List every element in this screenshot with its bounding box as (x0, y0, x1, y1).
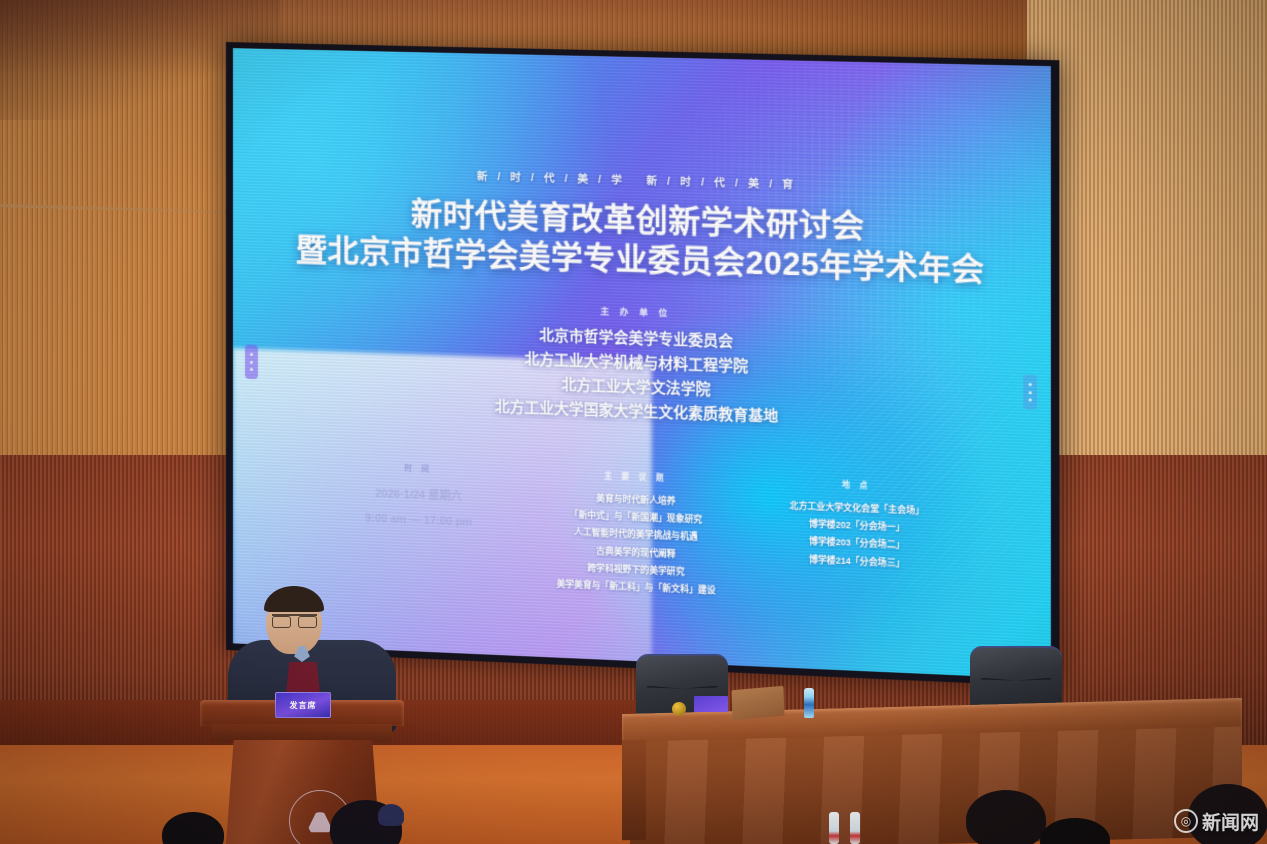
watermark: ◎ 新闻网 (1174, 806, 1259, 836)
time-column: 时 间 2026·1/24 星期六 9:00 am — 17:00 pm (311, 459, 527, 592)
table-nameplate (694, 696, 728, 712)
slide-eyebrow-left: 新 / 时 / 代 / 美 / 学 (477, 171, 626, 187)
speaker-glasses-icon (272, 614, 317, 624)
podium-mid-trim (212, 724, 392, 742)
water-bottle-floor-1 (829, 812, 839, 844)
speaker-hair (264, 586, 324, 612)
watermark-logo-icon: ◎ (1174, 809, 1198, 833)
venue-column-body: 北方工业大学文化会堂「主会场」 博学楼202「分会场一」 博学楼203「分会场二… (746, 496, 969, 575)
conference-table-group (622, 652, 1242, 844)
venue-column-label: 地 点 (746, 475, 969, 495)
led-screen: 新 / 时 / 代 / 美 / 学 新 / 时 / 代 / 美 / 育 新时代美… (233, 48, 1051, 679)
venue-column: 地 点 北方工业大学文化会堂「主会场」 博学楼202「分会场一」 博学楼203「… (746, 475, 969, 610)
time-column-body: 2026·1/24 星期六 9:00 am — 17:00 pm (311, 479, 527, 538)
podium-nameplate: 发言席 (275, 692, 331, 718)
audience-head (966, 790, 1046, 844)
podium-nameplate-text: 发言席 (290, 700, 317, 711)
water-bottle-floor-2 (850, 812, 860, 844)
topics-column: 主 要 议 题 美育与时代新人培养 「新中式」与「新国潮」现象研究 人工智能时代… (527, 467, 746, 601)
table-front-panel (630, 727, 1242, 844)
laptop-on-table (731, 686, 784, 720)
table-leg (622, 740, 646, 841)
organizers-list: 北京市哲学会美学专业委员会 北方工业大学机械与材料工程学院 北方工业大学文法学院… (233, 314, 1051, 439)
topics-column-body: 美育与时代新人培养 「新中式」与「新国潮」现象研究 人工智能时代的美学挑战与机遇… (527, 487, 746, 600)
audience-head (330, 800, 402, 844)
water-bottle-on-table (804, 688, 814, 718)
watermark-text: 新闻网 (1202, 808, 1259, 835)
time-column-label: 时 间 (311, 459, 527, 478)
conference-photo-scene: 新 / 时 / 代 / 美 / 学 新 / 时 / 代 / 美 / 育 新时代美… (0, 0, 1267, 844)
slide-eyebrow-right: 新 / 时 / 代 / 美 / 育 (646, 175, 796, 191)
slide-title: 新时代美育改革创新学术研讨会 暨北京市哲学会美学专业委员会2025年学术年会 (233, 189, 1051, 292)
desk-microphone-icon (672, 702, 686, 716)
topics-column-label: 主 要 议 题 (527, 467, 746, 486)
wall-right-wood-panel (1027, 0, 1267, 470)
slide-content: 新 / 时 / 代 / 美 / 学 新 / 时 / 代 / 美 / 育 新时代美… (233, 48, 1051, 679)
